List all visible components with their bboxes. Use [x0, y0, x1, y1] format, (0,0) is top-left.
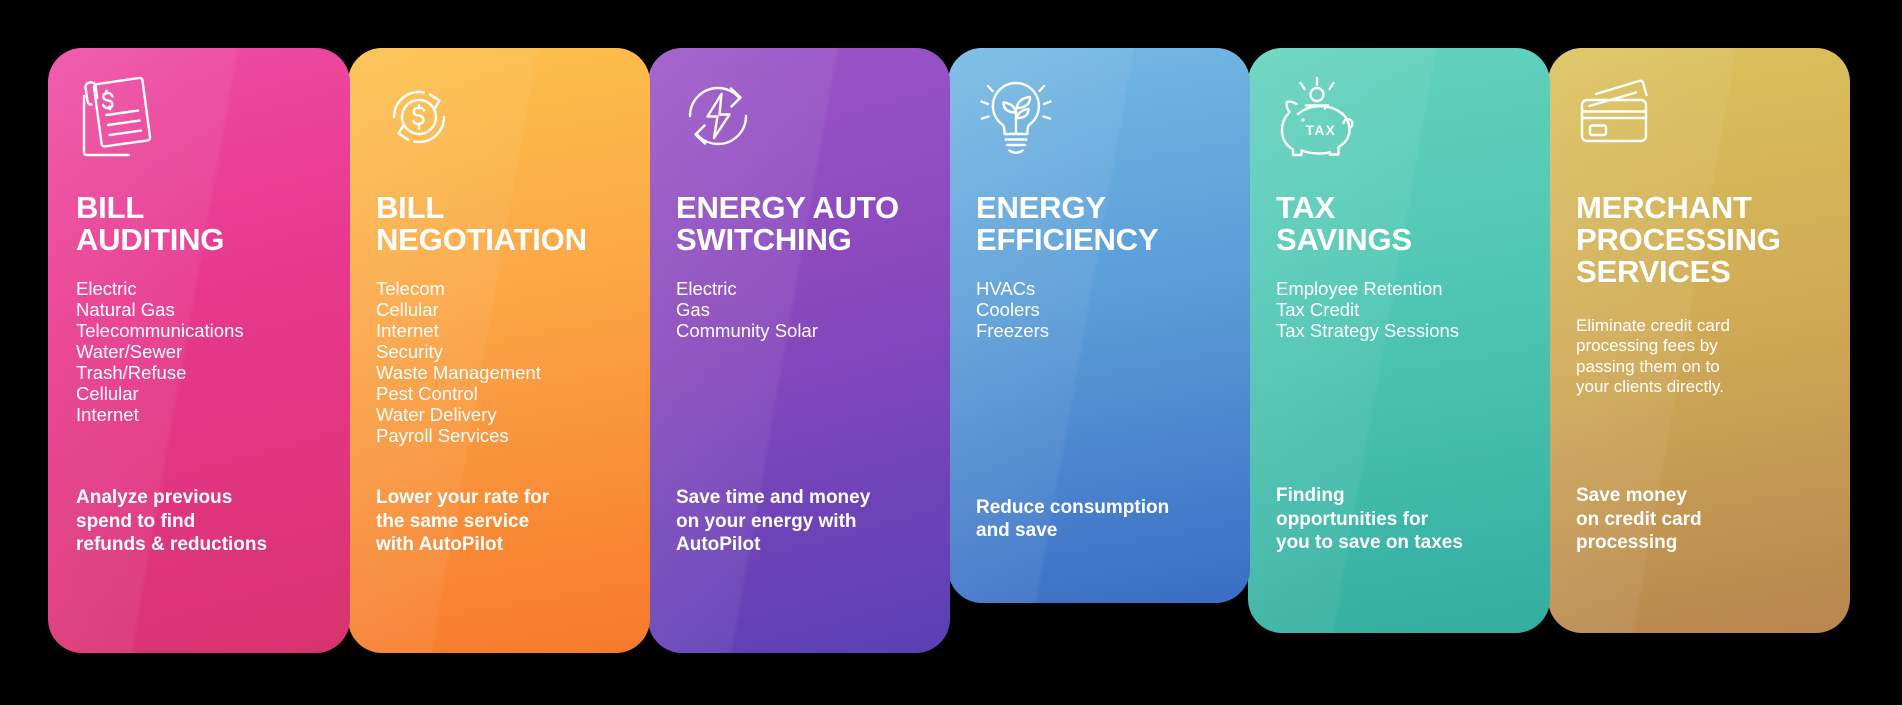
list-item: Internet: [76, 404, 322, 425]
dollar-refresh-cycle-icon: [376, 74, 622, 166]
list-item: Pest Control: [376, 383, 622, 404]
list-item: Natural Gas: [76, 299, 322, 320]
card-title: TAX SAVINGS: [1276, 192, 1522, 256]
service-list: Electric Natural Gas Telecommunications …: [76, 278, 322, 426]
list-item: Freezers: [976, 320, 1222, 341]
list-item: Employee Retention: [1276, 278, 1522, 299]
card-title: BILL NEGOTIATION: [376, 192, 622, 256]
list-item: HVACs: [976, 278, 1222, 299]
list-item: Water Delivery: [376, 404, 622, 425]
list-item: Internet: [376, 320, 622, 341]
list-item: Trash/Refuse: [76, 362, 322, 383]
card-title: BILL AUDITING: [76, 192, 322, 256]
card-tagline: Reduce consumption and save: [976, 496, 1222, 604]
card-tagline: Lower your rate for the same service wit…: [376, 486, 622, 653]
lightbulb-leaf-icon: [976, 74, 1222, 166]
card-title: ENERGY EFFICIENCY: [976, 192, 1222, 256]
cards-panel: BILL AUDITING Electric Natural Gas Telec…: [0, 0, 1902, 705]
list-item: Telecommunications: [76, 320, 322, 341]
list-item: Cellular: [76, 383, 322, 404]
service-list: HVACs Coolers Freezers: [976, 278, 1222, 341]
list-item: Gas: [676, 299, 922, 320]
service-list: Telecom Cellular Internet Security Waste…: [376, 278, 622, 447]
list-item: Tax Strategy Sessions: [1276, 320, 1522, 341]
card-tax-savings[interactable]: TAX TAX SAVINGS Employee Retention Tax C…: [1248, 48, 1550, 633]
card-blurb: Eliminate credit card processing fees by…: [1576, 316, 1822, 398]
service-list: Electric Gas Community Solar: [676, 278, 922, 341]
card-bill-negotiation[interactable]: BILL NEGOTIATION Telecom Cellular Intern…: [348, 48, 650, 653]
credit-cards-icon: [1576, 74, 1822, 166]
list-item: Tax Credit: [1276, 299, 1522, 320]
card-merchant-processing-services[interactable]: MERCHANT PROCESSING SERVICES Eliminate c…: [1548, 48, 1850, 633]
card-title: MERCHANT PROCESSING SERVICES: [1576, 192, 1822, 288]
list-item: Water/Sewer: [76, 341, 322, 362]
bill-document-dollar-icon: [76, 74, 322, 166]
list-item: Electric: [76, 278, 322, 299]
list-item: Payroll Services: [376, 425, 622, 446]
piggy-bank-tax-icon: TAX: [1276, 74, 1522, 166]
list-item: Waste Management: [376, 362, 622, 383]
card-bill-auditing[interactable]: BILL AUDITING Electric Natural Gas Telec…: [48, 48, 350, 653]
lightning-bolt-refresh-icon: [676, 74, 922, 166]
card-tagline: Save money on credit card processing: [1576, 484, 1822, 633]
list-item: Community Solar: [676, 320, 922, 341]
list-item: Security: [376, 341, 622, 362]
list-item: Electric: [676, 278, 922, 299]
list-item: Cellular: [376, 299, 622, 320]
svg-text:TAX: TAX: [1306, 123, 1337, 138]
card-title: ENERGY AUTO SWITCHING: [676, 192, 922, 256]
service-list: Employee Retention Tax Credit Tax Strate…: [1276, 278, 1522, 341]
list-item: Telecom: [376, 278, 622, 299]
card-tagline: Finding opportunities for you to save on…: [1276, 484, 1522, 633]
card-tagline: Analyze previous spend to find refunds &…: [76, 486, 322, 653]
list-item: Coolers: [976, 299, 1222, 320]
card-energy-efficiency[interactable]: ENERGY EFFICIENCY HVACs Coolers Freezers…: [948, 48, 1250, 603]
card-tagline: Save time and money on your energy with …: [676, 486, 922, 653]
card-energy-auto-switching[interactable]: ENERGY AUTO SWITCHING Electric Gas Commu…: [648, 48, 950, 653]
